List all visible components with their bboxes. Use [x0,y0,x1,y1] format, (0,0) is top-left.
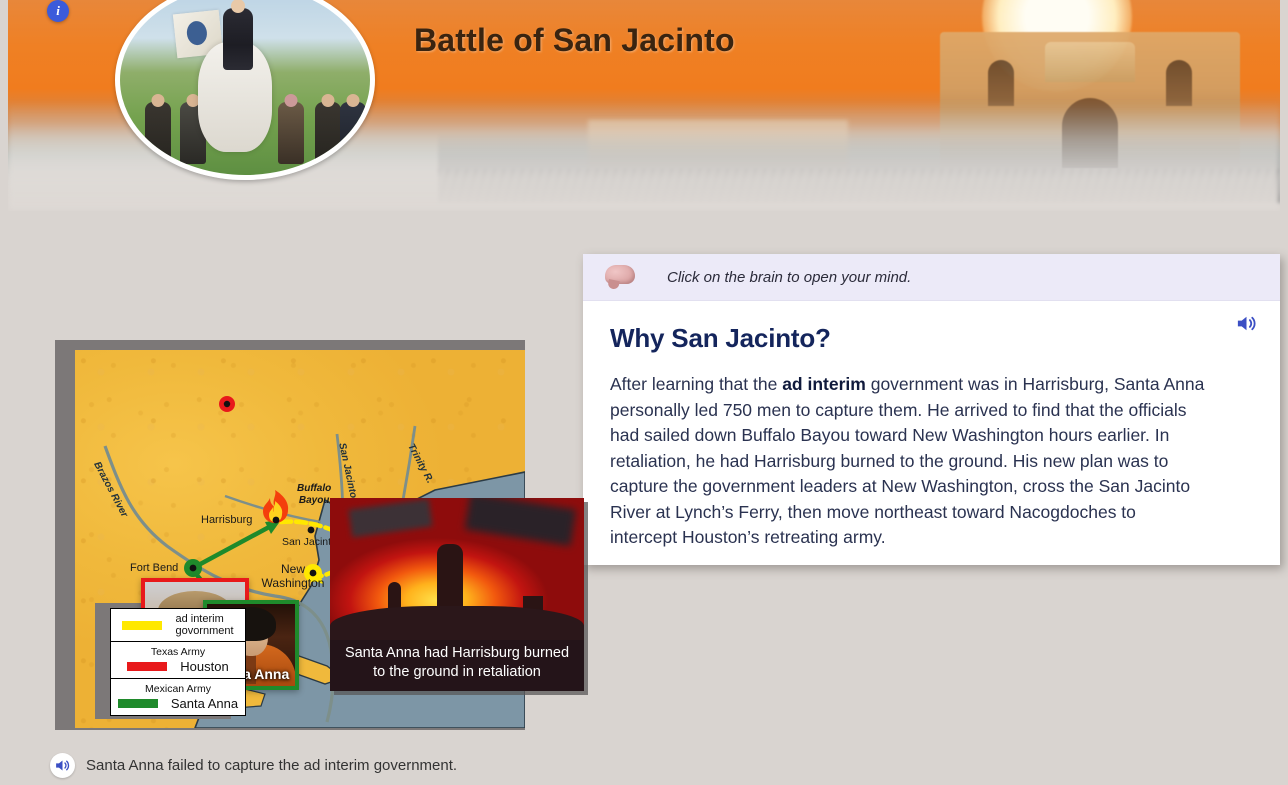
content-panel: Click on the brain to open your mind. Wh… [583,254,1280,565]
brain-stem [607,279,620,290]
section-paragraph: After learning that the ad interim gover… [583,354,1280,551]
speaker-icon[interactable] [50,753,75,778]
mounted-officer [223,8,253,70]
map-label-fort-bend: Fort Bend [130,562,178,574]
foreground-ground [330,606,584,640]
fire-card-caption: Santa Anna had Harrisburg burned to the … [330,640,584,691]
paragraph-emphasis: ad interim [782,374,866,394]
soldier-figure [278,102,304,164]
alamo-niche-left [988,60,1014,106]
fire-caption-line-1: Santa Anna had Harrisburg burned [345,645,569,661]
legend-label-ad-interim: ad interimgovornment [175,613,233,637]
legend-swatch-texas-army [127,662,167,671]
map-label-new-washington: NewWashington [262,562,325,590]
legend-swatch-mexican-army [118,699,158,708]
soldier-figure [145,102,171,164]
map-legend: ad interimgovornment Texas Army Houston … [110,608,246,716]
legend-row-texas-army: Texas Army Houston [111,642,245,679]
legend-row-mexican-army: Mexican Army Santa Anna [111,679,245,715]
paragraph-part-1: After learning that the [610,374,782,394]
speaker-icon[interactable] [1235,312,1258,335]
map-caption-row: Santa Anna failed to capture the ad inte… [50,753,457,778]
legend-leader-santa-anna: Santa Anna [171,696,238,711]
alamo-niche-right [1166,60,1192,106]
map-label-buffalo-bayou: BuffaloBayou [297,483,331,507]
page-title: Battle of San Jacinto [414,22,735,59]
page-banner: Battle of San Jacinto [8,0,1280,211]
legend-swatch-ad-interim [122,621,162,630]
info-icon[interactable]: i [47,0,69,22]
paragraph-part-2: government was in Harrisburg, Santa Anna… [610,374,1204,547]
soldier-figure [315,102,341,164]
map-figure: Brazos River San Jacinto R. Trinity R. B… [55,245,555,755]
harrisburg-burning-card[interactable]: Santa Anna had Harrisburg burned to the … [330,498,584,691]
houston-banner-portrait [115,0,375,180]
brain-hint-text: Click on the brain to open your mind. [667,269,911,286]
legend-leader-houston: Houston [180,659,228,674]
legend-title-mexican-army: Mexican Army [117,683,239,695]
map-label-harrisburg: Harrisburg [201,514,252,526]
map-caption-text: Santa Anna failed to capture the ad inte… [86,757,457,774]
legend-row-ad-interim: ad interimgovornment [111,609,245,642]
smoke-cloud-left [349,498,433,537]
soldier-figure [340,102,366,164]
brain-icon[interactable] [603,264,637,290]
fire-caption-line-2: to the ground in retaliation [373,664,541,680]
legend-title-texas-army: Texas Army [117,646,239,658]
smoke-cloud-right [465,498,576,546]
map-label-san-jacinto: San Jacinto [282,536,337,548]
section-heading: Why San Jacinto? [583,301,1280,354]
harrisburg-fire-painting [330,498,584,640]
brain-hint-bar: Click on the brain to open your mind. [583,254,1280,301]
alamo-gable [1045,42,1135,82]
